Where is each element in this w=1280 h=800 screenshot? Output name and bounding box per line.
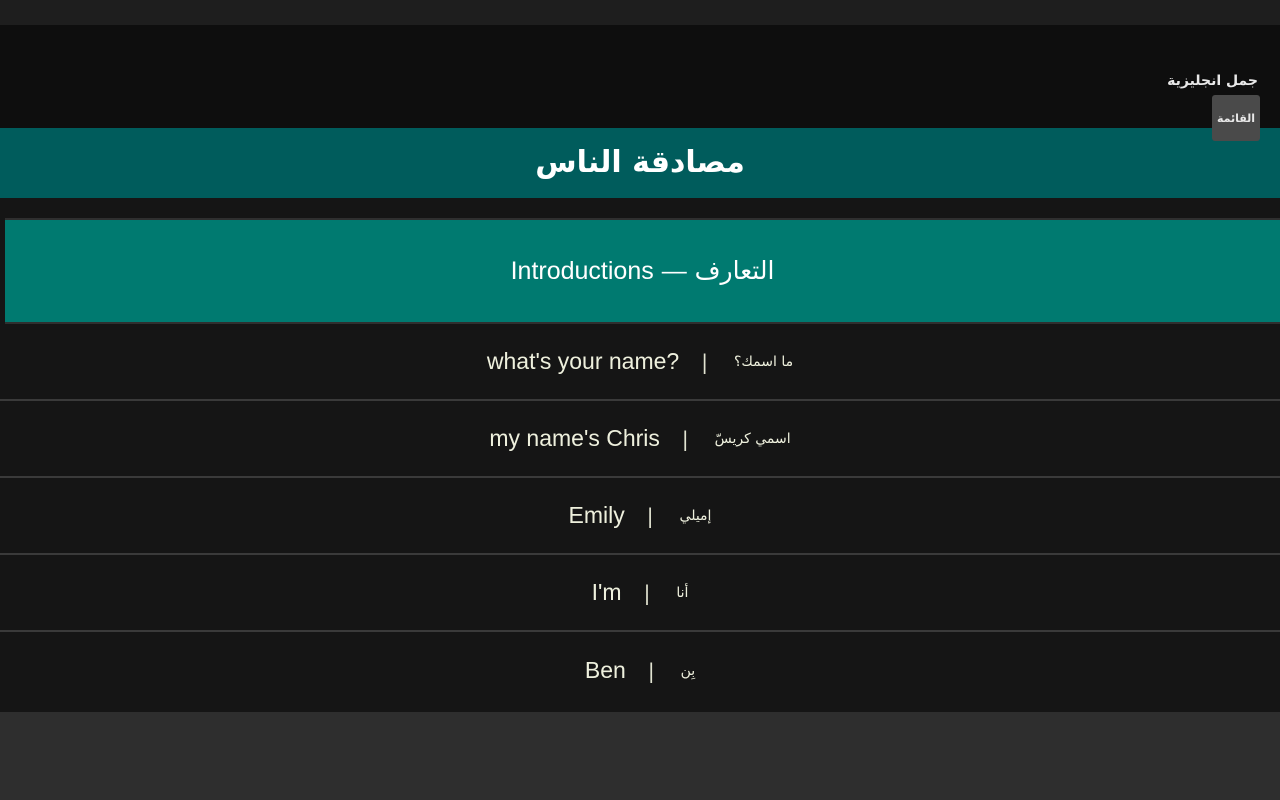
- phrase-arabic: اسمي كريسّ: [689, 432, 791, 446]
- phrase-separator: |: [679, 352, 708, 372]
- phrase-english: my name's Chris: [489, 427, 660, 450]
- phrase-english: what's your name?: [487, 350, 679, 373]
- page-title: مصادقة الناس: [535, 148, 745, 178]
- footer-area: [0, 712, 1280, 800]
- phrase-arabic: أنا: [650, 586, 688, 600]
- content-area: التعارف — Introductions ما اسمك؟ | what'…: [0, 198, 1280, 712]
- phrase-separator: |: [622, 583, 651, 603]
- phrase-inner: بِن | Ben: [585, 659, 695, 682]
- phrase-arabic: بِن: [655, 664, 696, 678]
- phrase-separator: |: [660, 429, 689, 449]
- section-title-arabic: التعارف: [695, 256, 775, 285]
- section-title: التعارف — Introductions: [511, 258, 775, 284]
- site-title[interactable]: جمل انجليزية: [1167, 74, 1258, 88]
- phrase-inner: اسمي كريسّ | my name's Chris: [489, 427, 790, 450]
- page-root: جمل انجليزية القائمة مصادقة الناس التعار…: [0, 0, 1280, 800]
- site-header: جمل انجليزية القائمة: [0, 25, 1280, 128]
- menu-button[interactable]: القائمة: [1212, 95, 1260, 141]
- phrase-english: Emily: [569, 504, 625, 527]
- phrase-inner: إميلي | Emily: [569, 504, 712, 527]
- phrase-separator: |: [625, 506, 654, 526]
- list-item[interactable]: ما اسمك؟ | what's your name?: [0, 324, 1280, 401]
- phrase-separator: |: [626, 661, 655, 681]
- top-strip: [0, 0, 1280, 25]
- phrase-english: I'm: [592, 581, 622, 604]
- phrase-inner: ما اسمك؟ | what's your name?: [487, 350, 793, 373]
- phrase-list: ما اسمك؟ | what's your name? اسمي كريسّ …: [0, 324, 1280, 709]
- section-title-dash: —: [662, 257, 687, 285]
- page-title-band: مصادقة الناس: [0, 128, 1280, 198]
- phrase-english: Ben: [585, 659, 626, 682]
- list-item[interactable]: أنا | I'm: [0, 555, 1280, 632]
- list-item[interactable]: اسمي كريسّ | my name's Chris: [0, 401, 1280, 478]
- phrase-arabic: ما اسمك؟: [708, 355, 793, 369]
- list-item[interactable]: إميلي | Emily: [0, 478, 1280, 555]
- phrase-arabic: إميلي: [654, 509, 712, 523]
- section-title-english: Introductions: [511, 257, 654, 285]
- section-header-introductions[interactable]: التعارف — Introductions: [5, 218, 1280, 324]
- phrase-inner: أنا | I'm: [592, 581, 689, 604]
- list-item[interactable]: بِن | Ben: [0, 632, 1280, 709]
